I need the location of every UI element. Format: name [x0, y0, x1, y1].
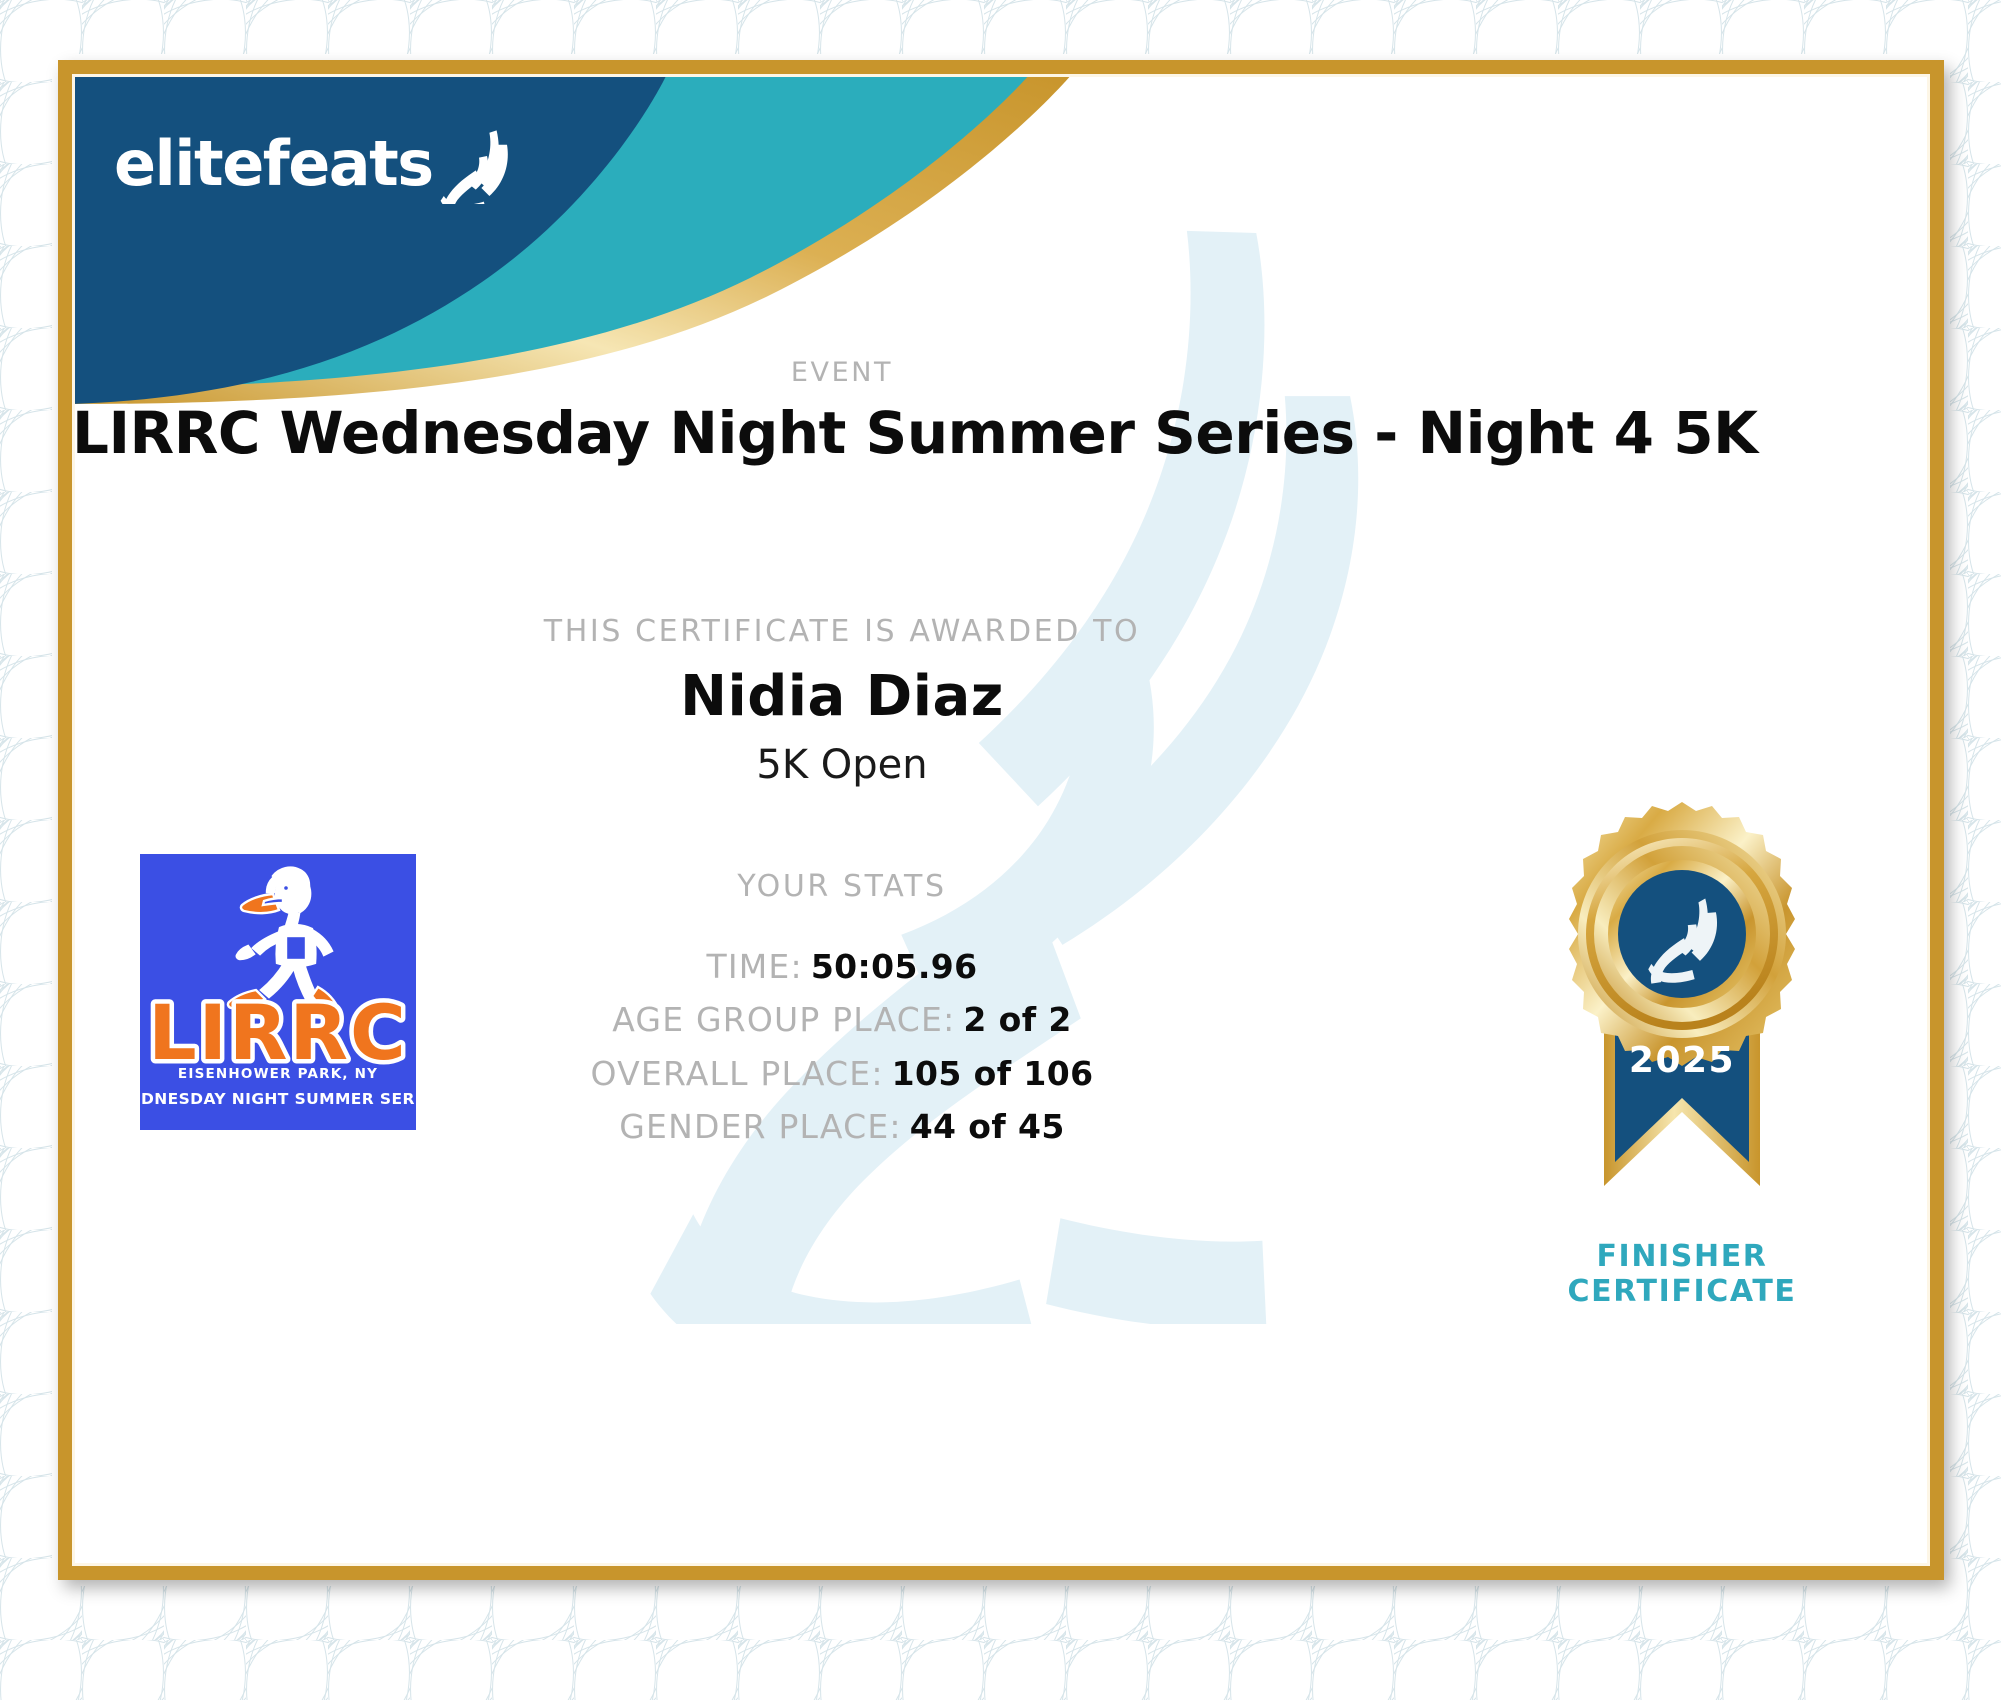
finisher-line-1: FINISHER	[1472, 1240, 1892, 1275]
stat-key: GENDER PLACE:	[619, 1107, 901, 1146]
medal-year: 2025	[1629, 1040, 1735, 1081]
stat-value: 2 of 2	[963, 1000, 1071, 1039]
finisher-certificate-caption: FINISHER CERTIFICATE	[1472, 1240, 1892, 1309]
event-title: LIRRC Wednesday Night Summer Series - Ni…	[72, 399, 1612, 467]
certificate-card: elitefeats EVENT LIRRC Wednesday Night S…	[58, 60, 1944, 1580]
lirrc-location: EISENHOWER PARK, NY	[178, 1066, 378, 1082]
recipient-division: 5K Open	[72, 742, 1612, 788]
certificate-page: elitefeats EVENT LIRRC Wednesday Night S…	[0, 0, 2001, 1700]
event-label: EVENT	[72, 357, 1612, 388]
stat-key: AGE GROUP PLACE:	[612, 1000, 955, 1039]
lirrc-series: WEDNESDAY NIGHT SUMMER SERIES	[140, 1090, 416, 1108]
recipient-name: Nidia Diaz	[72, 664, 1612, 729]
stat-value: 44 of 45	[910, 1107, 1065, 1146]
lirrc-wordmark: LIRRC LIRRC	[148, 988, 408, 1077]
stat-value: 50:05.96	[811, 947, 978, 986]
gold-medal-ribbon-icon: 2025	[1532, 794, 1832, 1234]
stat-value: 105 of 106	[892, 1054, 1094, 1093]
lirrc-event-logo: LIRRC LIRRC EISENHOWER PARK, NY WEDNESDA…	[140, 854, 416, 1130]
awarded-to-label: THIS CERTIFICATE IS AWARDED TO	[72, 614, 1612, 649]
svg-text:LIRRC: LIRRC	[148, 988, 408, 1077]
stat-key: TIME:	[706, 947, 802, 986]
finisher-medal-block: 2025 FINISHER CERTIFICATE	[1472, 794, 1892, 1309]
finisher-line-2: CERTIFICATE	[1472, 1275, 1892, 1310]
stat-key: OVERALL PLACE:	[591, 1054, 884, 1093]
